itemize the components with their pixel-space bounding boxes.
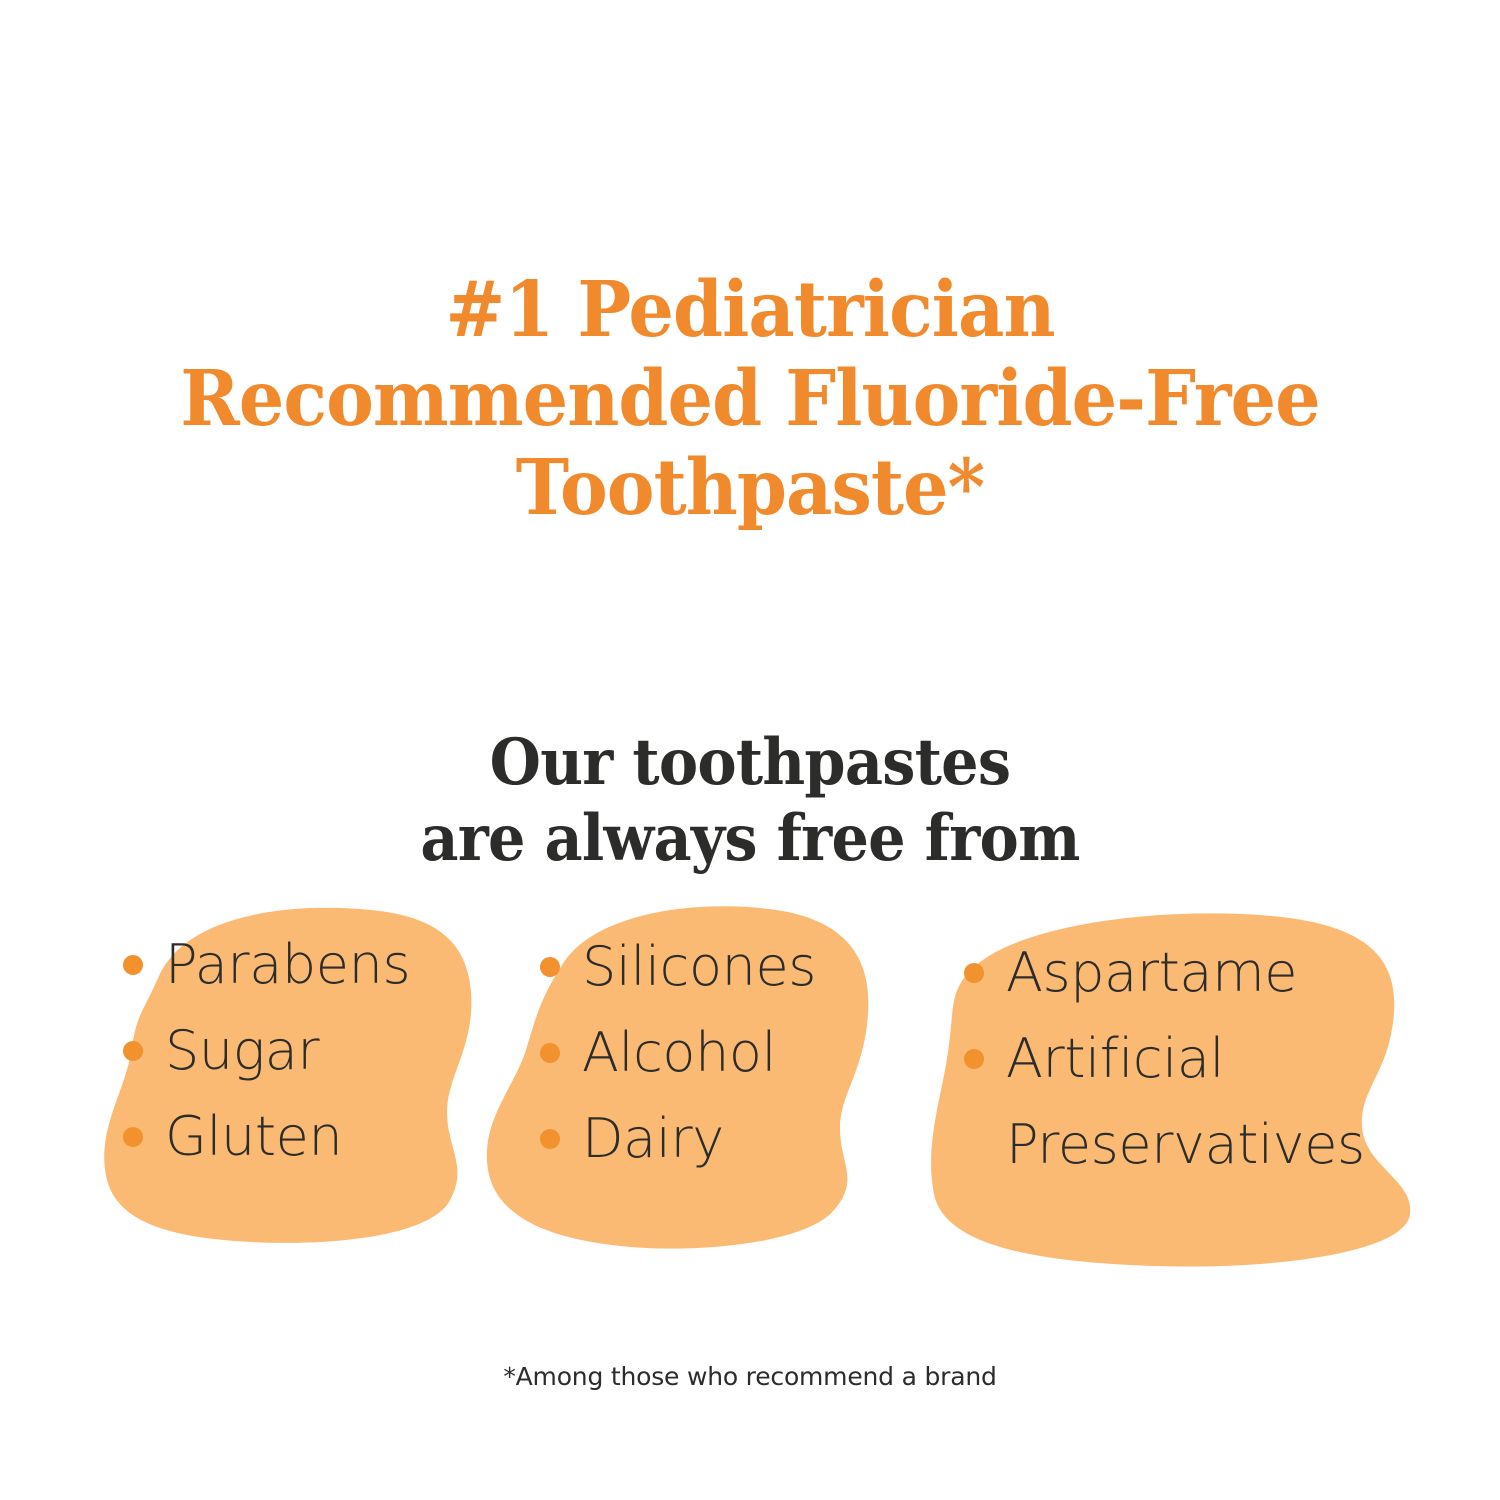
list-item: Alcohol [540, 1010, 816, 1096]
list-item: Gluten [123, 1094, 410, 1180]
bullet-dot-icon [964, 1049, 984, 1069]
bullet-dot-icon [540, 1043, 560, 1063]
free-from-list-2: Silicones Alcohol Dairy [540, 924, 816, 1182]
list-item-label: Parabens [165, 922, 410, 1008]
section-heading-free-from: Our toothpastes are always free from [60, 725, 1440, 877]
infographic-canvas: #1 Pediatrician Recommended Fluoride-Fre… [0, 0, 1500, 1500]
list-item: Silicones [540, 924, 816, 1010]
bullet-dot-icon [540, 1129, 560, 1149]
free-from-list-3: Aspartame Artificial Preservatives [964, 930, 1365, 1188]
list-item-label: Sugar [165, 1008, 319, 1094]
list-item: Dairy [540, 1096, 816, 1182]
list-item: Parabens [123, 922, 410, 1008]
list-item-label: Alcohol [582, 1010, 776, 1096]
free-from-list-1: Parabens Sugar Gluten [123, 922, 410, 1180]
list-item-label: Dairy [582, 1096, 724, 1182]
bullet-dot-icon [123, 1127, 143, 1147]
page-title: #1 Pediatrician Recommended Fluoride-Fre… [53, 266, 1448, 533]
list-item-label: Gluten [165, 1094, 342, 1180]
bullet-dot-icon [964, 963, 984, 983]
free-from-blob-group: Parabens Sugar Gluten Silicone [0, 880, 1500, 1280]
bullet-dot-icon [123, 1041, 143, 1061]
footnote-disclaimer: *Among those who recommend a brand [0, 1362, 1500, 1391]
list-item-label: Silicones [582, 924, 816, 1010]
list-item: Preservatives [964, 1102, 1365, 1188]
list-item: Aspartame [964, 930, 1365, 1016]
list-item-label: Aspartame [1006, 930, 1297, 1016]
bullet-dot-icon [540, 957, 560, 977]
list-item: Artificial [964, 1016, 1365, 1102]
list-item-label: Preservatives [1006, 1102, 1365, 1188]
bullet-dot-icon [123, 955, 143, 975]
list-item: Sugar [123, 1008, 410, 1094]
list-item-label: Artificial [1006, 1016, 1224, 1102]
